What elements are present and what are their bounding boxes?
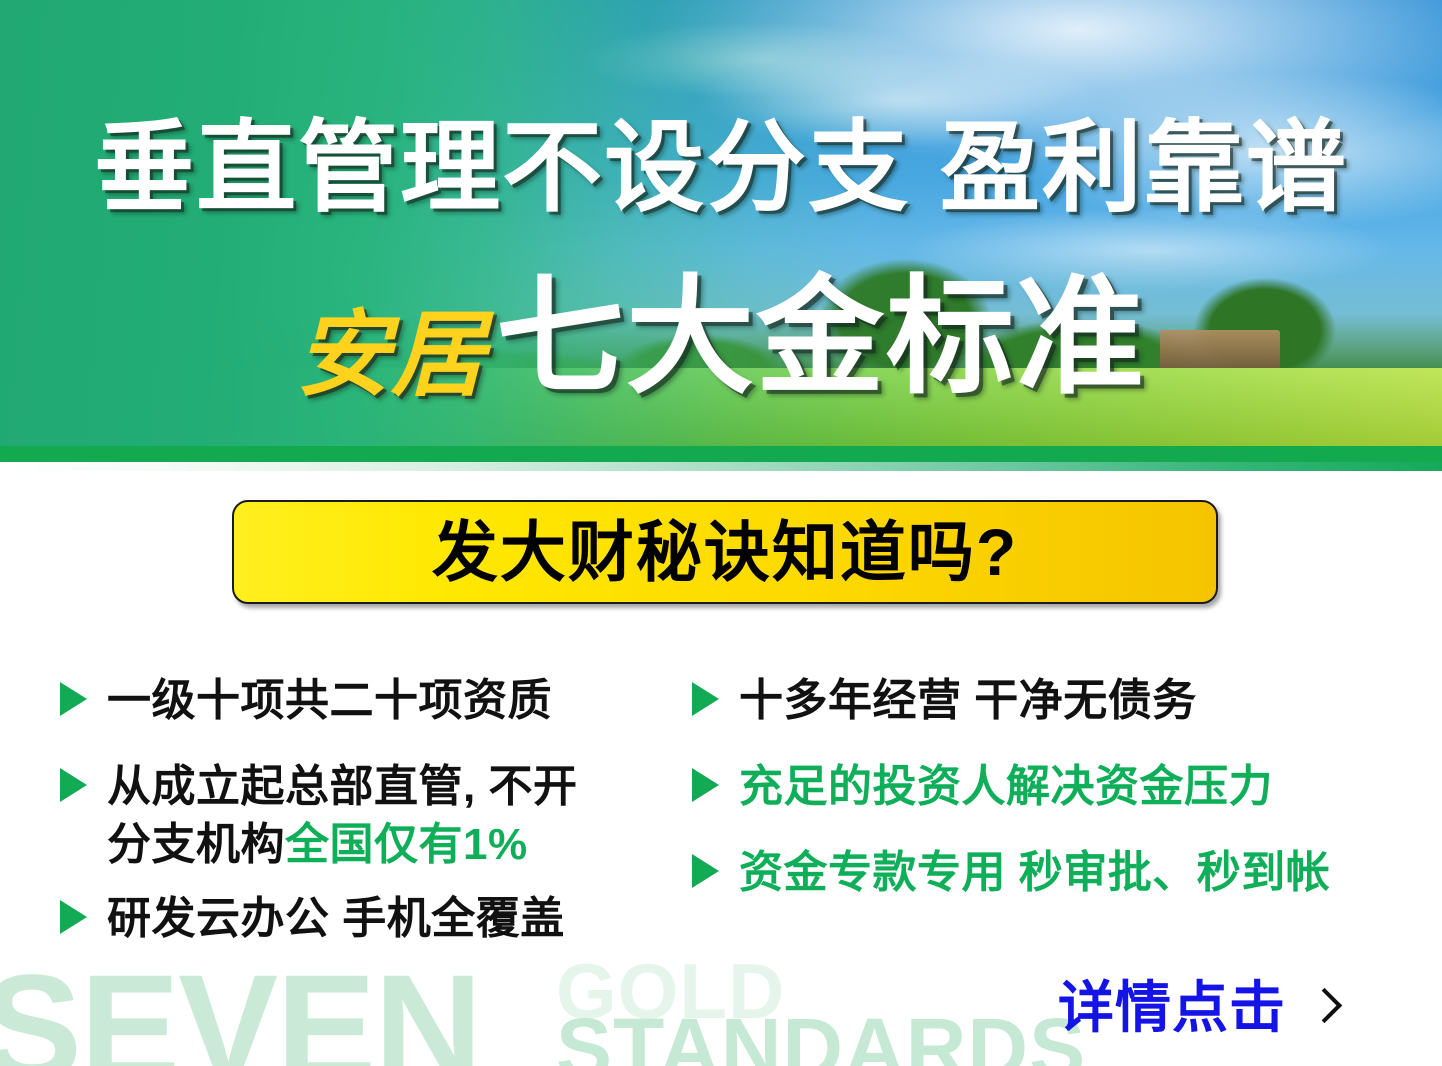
list-item: 从成立起总部直管, 不开 分支机构全国仅有1% xyxy=(60,758,680,874)
feature-text-qualifications: 一级十项共二十项资质 xyxy=(107,672,552,730)
feature-text-hq-direct-management: 从成立起总部直管, 不开 分支机构全国仅有1% xyxy=(107,758,577,874)
triangle-bullet-icon xyxy=(692,768,719,802)
hero-headline-primary: 垂直管理不设分支 盈利靠谱 xyxy=(0,112,1442,224)
feature-text-dedicated-funds: 资金专款专用 秒审批、秒到帐 xyxy=(739,844,1330,902)
hero-bottom-fade-stripe xyxy=(0,462,1442,471)
secret-question-banner[interactable]: 发大财秘诀知道吗? xyxy=(232,500,1218,604)
feature-list-right: 十多年经营 干净无债务 充足的投资人解决资金压力 资金专款专用 秒审批、秒到帐 xyxy=(692,672,1412,930)
list-item: 资金专款专用 秒审批、秒到帐 xyxy=(692,844,1412,902)
feature-text-cloud-office: 研发云办公 手机全覆盖 xyxy=(107,890,565,948)
triangle-bullet-icon xyxy=(60,900,87,934)
triangle-bullet-icon xyxy=(692,854,719,888)
hero-headline-seven-gold-standards: 七大金标准 xyxy=(496,268,1146,408)
feature-list-left: 一级十项共二十项资质 从成立起总部直管, 不开 分支机构全国仅有1% 研发云办公… xyxy=(60,672,680,976)
feature-line-1: 从成立起总部直管, 不开 xyxy=(107,762,577,811)
hero-bottom-green-bar xyxy=(0,446,1442,462)
list-item: 一级十项共二十项资质 xyxy=(60,672,680,730)
feature-text-sufficient-investors: 充足的投资人解决资金压力 xyxy=(739,758,1273,816)
list-item: 研发云办公 手机全覆盖 xyxy=(60,890,680,948)
secret-question-label: 发大财秘诀知道吗? xyxy=(432,519,1018,585)
chevron-right-icon xyxy=(1310,987,1336,1029)
triangle-bullet-icon xyxy=(60,768,87,802)
triangle-bullet-icon xyxy=(60,682,87,716)
feature-line-2-black: 分支机构 xyxy=(107,820,285,869)
triangle-bullet-icon xyxy=(692,682,719,716)
watermark-standards: STANDARDS xyxy=(556,1006,1086,1066)
list-item: 十多年经营 干净无债务 xyxy=(692,672,1412,730)
brand-name-anju: 安居 xyxy=(296,286,486,426)
feature-text-years-operating: 十多年经营 干净无债务 xyxy=(739,672,1197,730)
feature-line-2-highlight: 全国仅有1% xyxy=(285,820,528,869)
details-link[interactable]: 详情点击 xyxy=(1058,978,1336,1038)
promo-banner: 垂直管理不设分支 盈利靠谱 安居七大金标准 发大财秘诀知道吗? 一级十项共二十项… xyxy=(0,0,1442,1066)
hero-headline-secondary: 安居七大金标准 xyxy=(0,268,1442,447)
details-link-label: 详情点击 xyxy=(1058,978,1286,1038)
list-item: 充足的投资人解决资金压力 xyxy=(692,758,1412,816)
